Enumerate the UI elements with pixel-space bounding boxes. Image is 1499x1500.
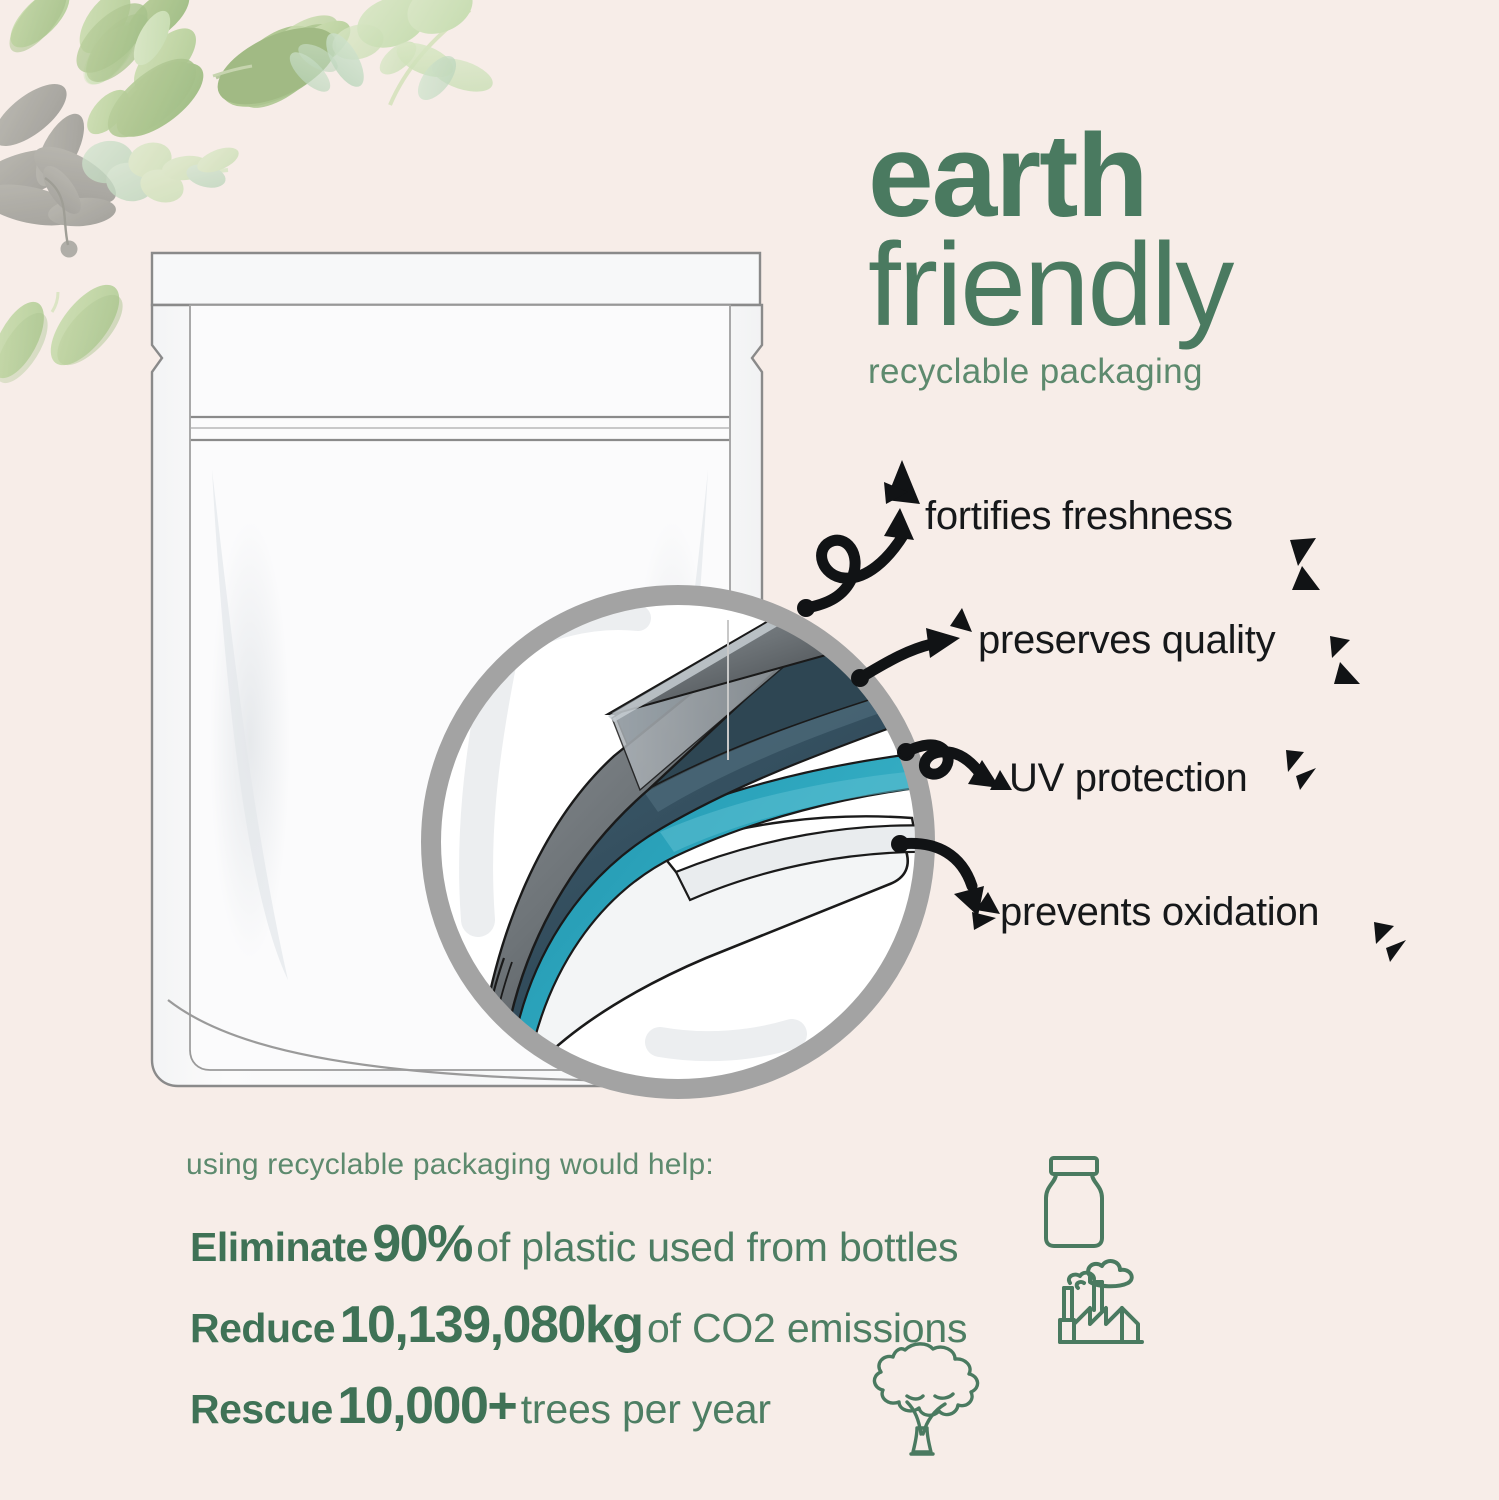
arrow-fortifies-freshness	[797, 508, 914, 617]
subtitle: recyclable packaging	[868, 352, 1428, 392]
tree-icon	[857, 1338, 985, 1464]
stat-verb: Rescue	[190, 1386, 333, 1432]
arrow-preserves-quality	[851, 628, 960, 687]
stat-row: Reduce 10,139,080kg of CO2 emissions	[190, 1295, 967, 1355]
title-line-1: earth	[868, 120, 1428, 232]
arrow-prevents-oxidation	[891, 835, 984, 916]
stat-tail: trees per year	[521, 1386, 771, 1432]
stat-row: Rescue 10,000+ trees per year	[190, 1376, 771, 1436]
feature-label-prevents-oxidation: prevents oxidation	[1000, 890, 1319, 935]
stat-tail: of plastic used from bottles	[476, 1224, 958, 1270]
title-line-2: friendly	[868, 226, 1428, 344]
stat-value: 90%	[372, 1215, 472, 1273]
feature-label-fortifies-freshness: fortifies freshness	[925, 494, 1233, 539]
feature-label-preserves-quality: preserves quality	[978, 618, 1275, 663]
bottle-icon	[1036, 1154, 1112, 1250]
stats-intro-text: using recyclable packaging would help:	[186, 1148, 714, 1182]
factory-icon	[1054, 1258, 1158, 1348]
stat-verb: Reduce	[190, 1305, 335, 1351]
stat-value: 10,000+	[337, 1377, 516, 1435]
feature-label-uv-protection: UV protection	[1009, 756, 1247, 801]
stat-row: Eliminate 90% of plastic used from bottl…	[190, 1214, 958, 1274]
poster-canvas: .ar { fill:none; stroke:#111315; stroke-…	[0, 0, 1499, 1500]
headline-block: earth friendly recyclable packaging	[868, 120, 1428, 392]
stat-value: 10,139,080kg	[340, 1296, 643, 1354]
stat-verb: Eliminate	[190, 1224, 368, 1270]
arrow-uv-protection	[897, 743, 1000, 788]
